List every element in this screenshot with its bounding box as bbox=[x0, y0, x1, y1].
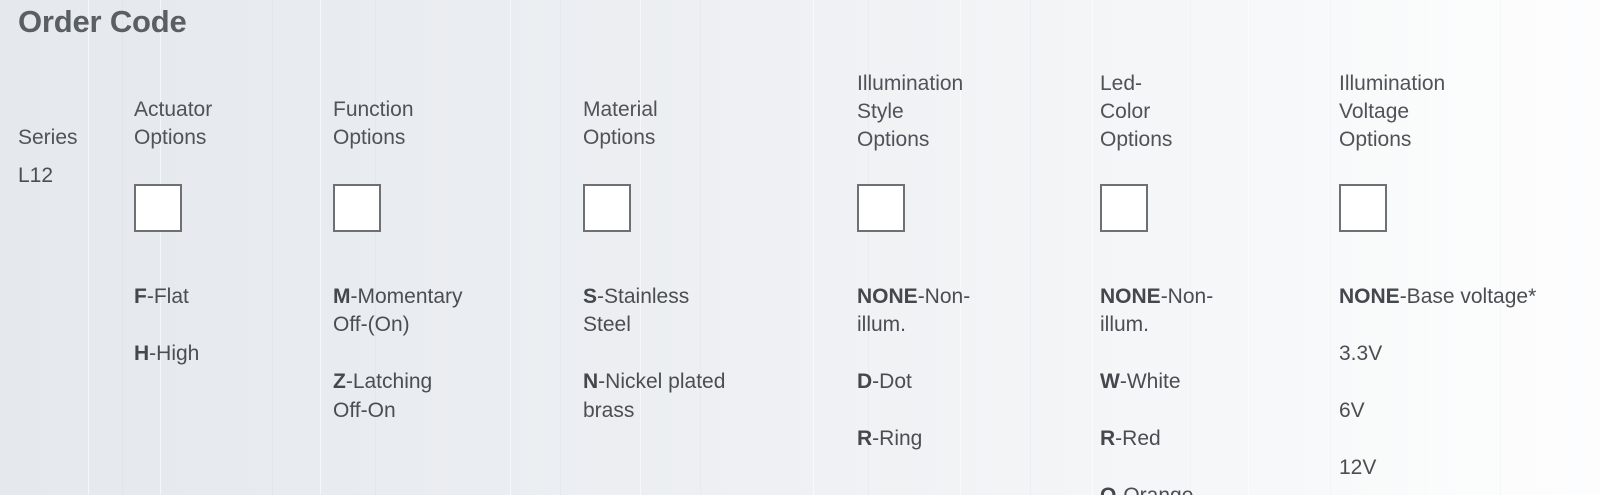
code-box-material[interactable] bbox=[583, 184, 631, 232]
option-label: -White bbox=[1120, 370, 1181, 393]
order-code-panel: Order Code Series L12 Actuator Options F… bbox=[0, 0, 1600, 495]
option-label: -Dot bbox=[872, 370, 912, 393]
option-code: R bbox=[857, 427, 872, 450]
list-item: 3.3V bbox=[1339, 340, 1536, 369]
option-code: NONE bbox=[857, 285, 918, 308]
list-item: R-Red bbox=[1100, 425, 1213, 454]
option-label: -Latching Off-On bbox=[333, 370, 432, 422]
column-header-illumination-style-options: Illumination Style Options bbox=[857, 70, 963, 154]
option-code: Z bbox=[333, 370, 346, 393]
option-code: S bbox=[583, 285, 597, 308]
option-code: NONE bbox=[1339, 285, 1400, 308]
list-item: 12V bbox=[1339, 454, 1536, 483]
list-item: 6V bbox=[1339, 397, 1536, 426]
option-label: -Momentary Off-(On) bbox=[333, 285, 463, 337]
options-list-led-color: NONE-Non- illum. W-White R-Red O-Orange … bbox=[1100, 254, 1213, 495]
option-label: -Red bbox=[1115, 427, 1161, 450]
code-box-illumination-voltage[interactable] bbox=[1339, 184, 1387, 232]
list-item: NONE-Non- illum. bbox=[1100, 283, 1213, 340]
options-list-function: M-Momentary Off-(On) Z-Latching Off-On bbox=[333, 254, 463, 454]
list-item: H-High bbox=[134, 340, 199, 369]
list-item: D-Dot bbox=[857, 368, 970, 397]
option-label: -Stainless Steel bbox=[583, 285, 689, 337]
column-material-options: Material Options S-Stainless Steel N-Nic… bbox=[583, 0, 848, 495]
column-header-led-color-options: Led- Color Options bbox=[1100, 70, 1172, 154]
option-label: -Ring bbox=[872, 427, 922, 450]
option-code: O bbox=[1100, 484, 1116, 495]
column-actuator-options: Actuator Options F-Flat H-High bbox=[134, 0, 324, 495]
option-code: H bbox=[134, 342, 149, 365]
column-header-actuator-options: Actuator Options bbox=[134, 96, 212, 152]
list-item: M-Momentary Off-(On) bbox=[333, 283, 463, 340]
column-header-illumination-voltage-options: Illumination Voltage Options bbox=[1339, 70, 1445, 154]
list-item: NONE-Base voltage* bbox=[1339, 283, 1536, 312]
column-header-series: Series bbox=[18, 124, 78, 152]
list-item: W-White bbox=[1100, 368, 1213, 397]
column-illumination-style-options: Illumination Style Options NONE-Non- ill… bbox=[857, 0, 1092, 495]
code-box-function[interactable] bbox=[333, 184, 381, 232]
options-list-illumination-style: NONE-Non- illum. D-Dot R-Ring bbox=[857, 254, 970, 482]
column-led-color-options: Led- Color Options NONE-Non- illum. W-Wh… bbox=[1100, 0, 1330, 495]
column-illumination-voltage-options: Illumination Voltage Options NONE-Base v… bbox=[1339, 0, 1594, 495]
list-item: Z-Latching Off-On bbox=[333, 368, 463, 425]
options-list-material: S-Stainless Steel N-Nickel plated brass bbox=[583, 254, 725, 454]
option-label: 12V bbox=[1339, 456, 1376, 479]
list-item: NONE-Non- illum. bbox=[857, 283, 970, 340]
code-box-actuator[interactable] bbox=[134, 184, 182, 232]
option-code: D bbox=[857, 370, 872, 393]
options-list-illumination-voltage: NONE-Base voltage* 3.3V 6V 12V 24V bbox=[1339, 254, 1536, 495]
column-function-options: Function Options M-Momentary Off-(On) Z-… bbox=[333, 0, 573, 495]
option-code: W bbox=[1100, 370, 1120, 393]
option-label: -Base voltage* bbox=[1400, 285, 1537, 308]
option-label: -Flat bbox=[147, 285, 189, 308]
option-label: -High bbox=[149, 342, 199, 365]
option-label: -Orange bbox=[1116, 484, 1193, 495]
option-label: -Nickel plated brass bbox=[583, 370, 725, 422]
list-item: N-Nickel plated brass bbox=[583, 368, 725, 425]
option-label: 3.3V bbox=[1339, 342, 1382, 365]
list-item: R-Ring bbox=[857, 425, 970, 454]
code-box-led-color[interactable] bbox=[1100, 184, 1148, 232]
option-code: N bbox=[583, 370, 598, 393]
option-code: R bbox=[1100, 427, 1115, 450]
column-series: Series L12 bbox=[18, 0, 128, 495]
options-list-actuator: F-Flat H-High bbox=[134, 254, 199, 397]
list-item: S-Stainless Steel bbox=[583, 283, 725, 340]
code-box-illumination-style[interactable] bbox=[857, 184, 905, 232]
option-code: M bbox=[333, 285, 351, 308]
list-item: O-Orange bbox=[1100, 482, 1213, 495]
option-label: 6V bbox=[1339, 399, 1365, 422]
option-code: F bbox=[134, 285, 147, 308]
column-header-material-options: Material Options bbox=[583, 96, 658, 152]
series-value: L12 bbox=[18, 162, 53, 190]
list-item: F-Flat bbox=[134, 283, 199, 312]
option-code: NONE bbox=[1100, 285, 1161, 308]
column-header-function-options: Function Options bbox=[333, 96, 414, 152]
